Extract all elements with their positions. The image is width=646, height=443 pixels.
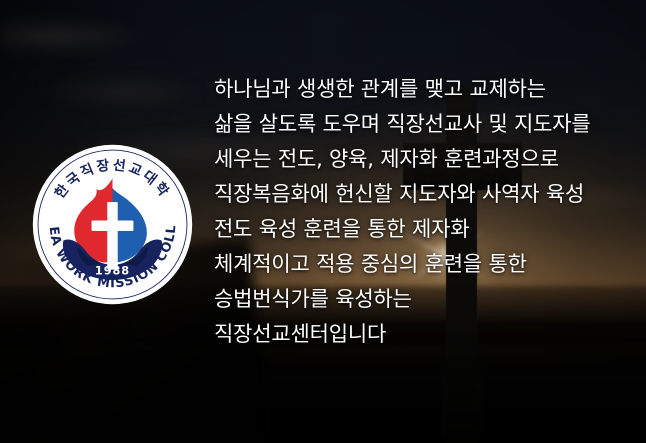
statement-line: 승법번식가를 육성하는 [214,282,638,317]
statement-line: 전도 육성 훈련을 통한 제자화 [214,212,638,247]
cross-white-vertical-icon [107,202,117,270]
statement-line: 세우는 전도, 양육, 제자화 훈련과정으로 [214,142,638,177]
statement-line: 체계적이고 적용 중심의 훈련을 통한 [214,247,638,282]
statement-line: 직장복음화에 헌신할 지도자와 사역자 육성 [214,177,638,212]
hero-banner: 1988 한국직장선교대학 KOREA WORK MISSION COLLEGE… [0,0,646,443]
cross-white-horizontal-icon [92,220,134,230]
statement-line: 하나님과 생생한 관계를 맺고 교제하는 [214,72,638,107]
statement-line: 직장선교센터입니다 [214,317,638,352]
mission-statement: 하나님과 생생한 관계를 맺고 교제하는 삶을 살도록 도우며 직장선교사 및 … [214,72,638,352]
statement-line: 삶을 살도록 도우며 직장선교사 및 지도자를 [214,107,638,142]
college-emblem-logo: 1988 한국직장선교대학 KOREA WORK MISSION COLLEGE [32,144,193,305]
